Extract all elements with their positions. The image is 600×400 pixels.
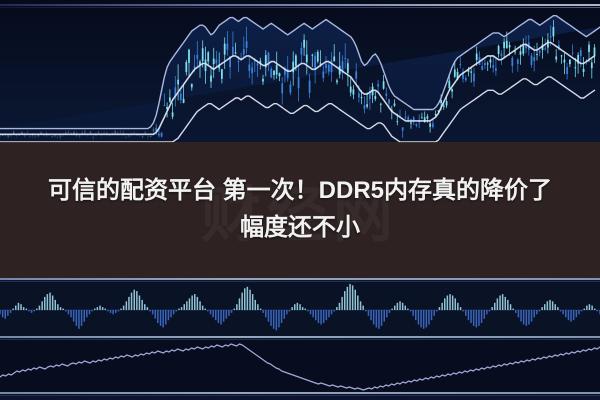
panel-divider-top-shadow: [0, 281, 600, 282]
panel-divider-middle-shadow: [0, 339, 600, 340]
panel-divider-middle: [0, 336, 600, 338]
headline: 可信的配资平台 第一次！DDR5内存真的降价了 幅度还不小: [0, 142, 600, 278]
headline-line-2: 幅度还不小: [240, 213, 360, 244]
panel-divider-bottom-shadow: [0, 395, 600, 396]
chart-banner: 财经网 可信的配资平台 第一次！DDR5内存真的降价了 幅度还不小: [0, 0, 600, 400]
headline-line-1: 可信的配资平台 第一次！DDR5内存真的降价了: [48, 176, 552, 207]
panel-divider-bottom: [0, 392, 600, 394]
panel-divider-top: [0, 278, 600, 280]
